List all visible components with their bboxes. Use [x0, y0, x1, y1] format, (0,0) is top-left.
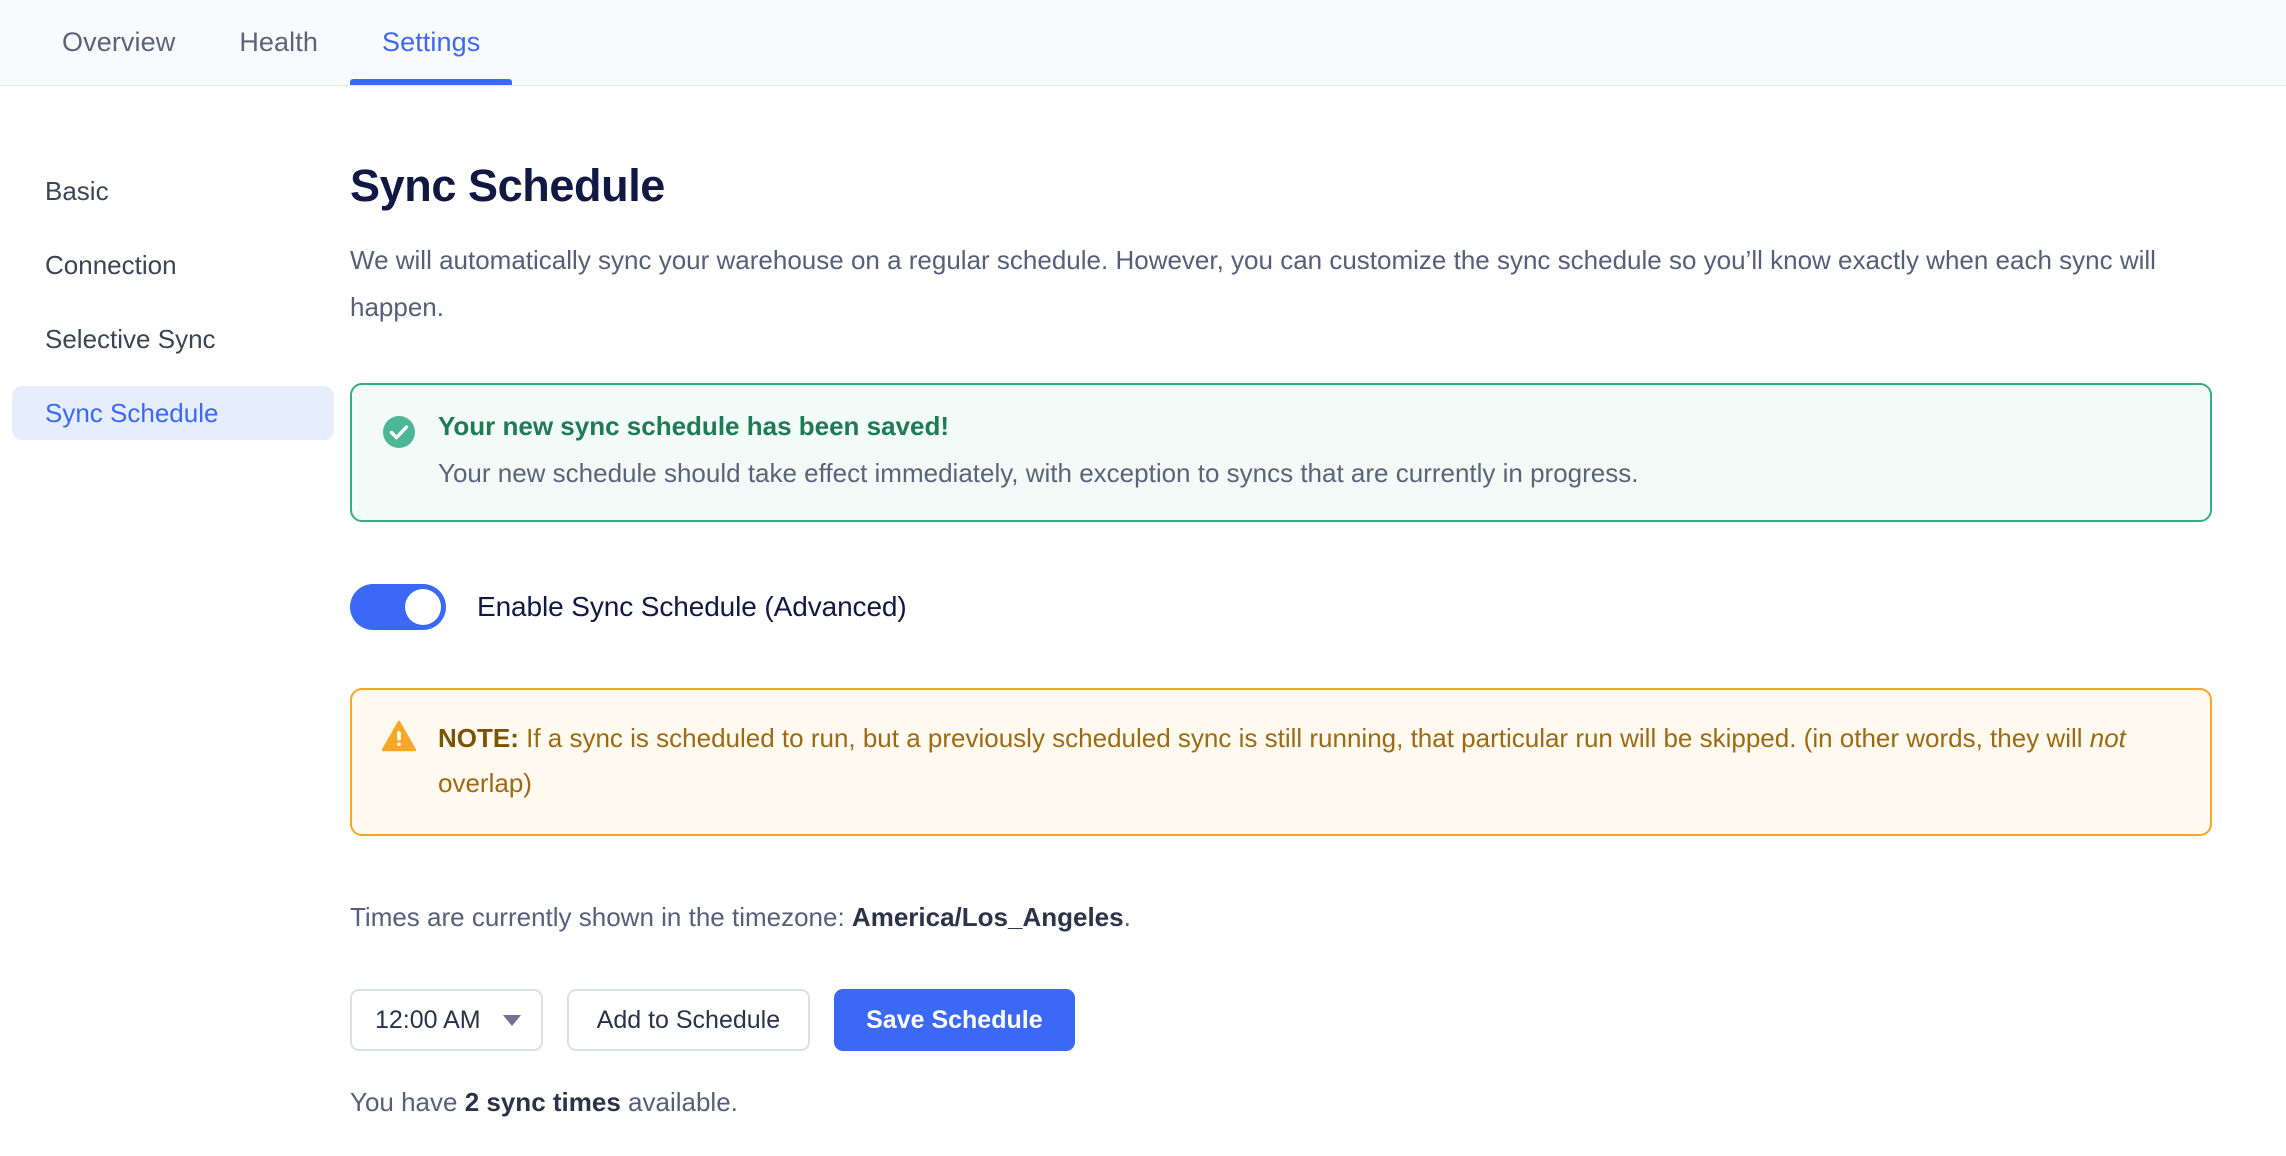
- tab-settings-label: Settings: [382, 27, 480, 58]
- success-alert-text: Your new sync schedule has been saved! Y…: [438, 411, 1638, 492]
- timezone-value: America/Los_Angeles: [852, 902, 1124, 932]
- toggle-knob: [405, 589, 441, 625]
- enable-sync-schedule-label: Enable Sync Schedule (Advanced): [477, 591, 907, 623]
- tab-bar: Overview Health Settings: [0, 0, 2286, 86]
- check-circle-icon: [382, 411, 416, 454]
- note-prefix: NOTE:: [438, 723, 519, 753]
- settings-sidebar: Basic Connection Selective Sync Sync Sch…: [0, 86, 350, 460]
- tab-health-label: Health: [239, 27, 318, 58]
- time-select-value: 12:00 AM: [375, 1006, 481, 1035]
- available-count: 2 sync times: [465, 1087, 621, 1117]
- timezone-prefix: Times are currently shown in the timezon…: [350, 902, 852, 932]
- enable-sync-schedule-toggle[interactable]: [350, 584, 446, 630]
- sidebar-item-connection[interactable]: Connection: [12, 238, 334, 292]
- sync-times-available-line: You have 2 sync times available.: [350, 1087, 2212, 1118]
- available-prefix: You have: [350, 1087, 465, 1117]
- sidebar-item-label: Selective Sync: [45, 324, 216, 355]
- note-italic-word: not: [2090, 723, 2126, 753]
- note-text-before-italic: If a sync is scheduled to run, but a pre…: [519, 723, 2090, 753]
- success-alert-body: Your new schedule should take effect imm…: [438, 454, 1638, 492]
- sidebar-item-label: Basic: [45, 176, 109, 207]
- sidebar-item-label: Sync Schedule: [45, 398, 218, 429]
- timezone-suffix: .: [1124, 902, 1131, 932]
- sidebar-item-selective-sync[interactable]: Selective Sync: [12, 312, 334, 366]
- page-title: Sync Schedule: [350, 160, 2212, 212]
- timezone-line: Times are currently shown in the timezon…: [350, 902, 2212, 933]
- save-schedule-label: Save Schedule: [866, 1006, 1042, 1035]
- warning-triangle-icon: [382, 716, 416, 757]
- enable-sync-schedule-row: Enable Sync Schedule (Advanced): [350, 584, 2212, 630]
- note-warning-text: NOTE: If a sync is scheduled to run, but…: [438, 716, 2180, 806]
- time-select[interactable]: 12:00 AM: [350, 989, 543, 1051]
- sidebar-item-label: Connection: [45, 250, 177, 281]
- tab-health[interactable]: Health: [207, 0, 350, 85]
- main-content: Sync Schedule We will automatically sync…: [350, 86, 2286, 1118]
- add-to-schedule-button[interactable]: Add to Schedule: [567, 989, 810, 1051]
- chevron-down-icon: [503, 1015, 521, 1026]
- schedule-controls: 12:00 AM Add to Schedule Save Schedule: [350, 989, 2212, 1051]
- add-to-schedule-label: Add to Schedule: [597, 1006, 780, 1035]
- note-warning-alert: NOTE: If a sync is scheduled to run, but…: [350, 688, 2212, 836]
- success-alert: Your new sync schedule has been saved! Y…: [350, 383, 2212, 522]
- success-alert-title: Your new sync schedule has been saved!: [438, 411, 1638, 442]
- available-suffix: available.: [621, 1087, 738, 1117]
- page-description: We will automatically sync your warehous…: [350, 237, 2162, 331]
- tab-overview-label: Overview: [62, 27, 175, 58]
- tab-overview[interactable]: Overview: [30, 0, 207, 85]
- tab-settings[interactable]: Settings: [350, 0, 512, 85]
- note-text-after-italic: overlap): [438, 768, 532, 798]
- sidebar-item-basic[interactable]: Basic: [12, 164, 334, 218]
- sidebar-item-sync-schedule[interactable]: Sync Schedule: [12, 386, 334, 440]
- save-schedule-button[interactable]: Save Schedule: [834, 989, 1074, 1051]
- page-layout: Basic Connection Selective Sync Sync Sch…: [0, 86, 2286, 1118]
